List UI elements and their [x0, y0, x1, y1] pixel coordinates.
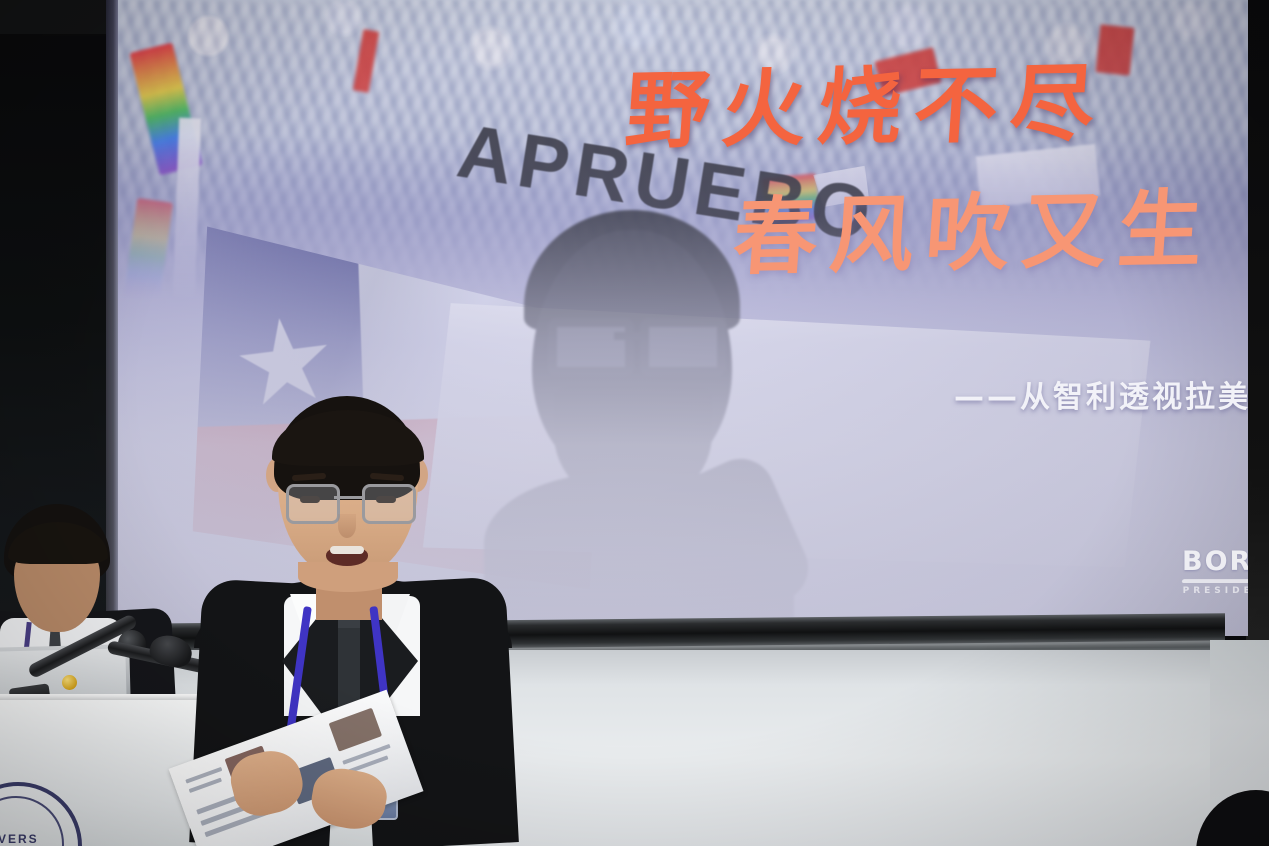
slide-title-line-1: 野火烧不尽 [622, 57, 1248, 157]
handout-photo [329, 708, 382, 752]
glasses-icon [362, 484, 416, 524]
university-seal-text: NIVERS [0, 832, 39, 846]
boric-logo-name: BORIC [1182, 546, 1248, 577]
presentation-photo-scene: APRUEBO 野火烧不尽 春风吹又生 ——从智利透视拉美粉红浪潮 [0, 0, 1269, 846]
boric-logo: BORIC PRESIDENTE [1182, 546, 1248, 596]
speaker-chin [298, 562, 398, 592]
left-wall-top-trim [0, 0, 118, 36]
boric-logo-tagline: PRESIDENTE [1182, 586, 1248, 596]
stencil-glasses-left [548, 318, 634, 376]
glasses-icon [286, 484, 340, 524]
stencil-glasses-bridge [614, 332, 642, 340]
glasses-bridge [334, 496, 362, 499]
stencil-glasses-right [640, 318, 726, 376]
slide-title-block: 野火烧不尽 春风吹又生 [626, 62, 1246, 278]
slide-title-line-2: 春风吹又生 [731, 185, 1248, 283]
boric-logo-rule [1181, 579, 1248, 583]
microphone-gold-knob [62, 675, 77, 690]
speaker-teeth [330, 546, 364, 554]
speaker-nose [338, 514, 356, 538]
slide-subtitle: ——从智利透视拉美粉红浪潮 [954, 372, 1248, 416]
speaker-person [166, 396, 526, 846]
